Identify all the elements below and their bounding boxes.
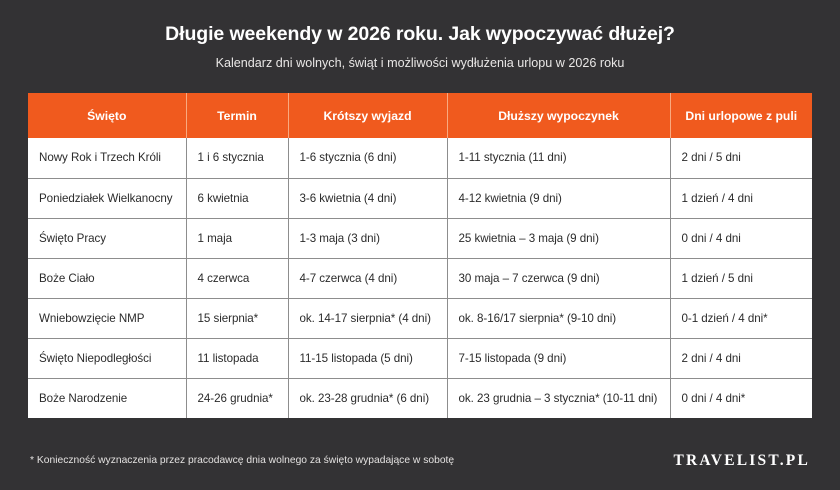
cell-vacation-days: 2 dni / 5 dni xyxy=(670,138,812,178)
calendar-table-container: Święto Termin Krótszy wyjazd Dłuższy wyp… xyxy=(28,93,812,418)
cell-date: 6 kwietnia xyxy=(186,178,288,218)
cell-holiday: Boże Ciało xyxy=(28,258,186,298)
cell-short-trip: ok. 14-17 sierpnia* (4 dni) xyxy=(288,298,447,338)
cell-holiday: Nowy Rok i Trzech Króli xyxy=(28,138,186,178)
cell-date: 24-26 grudnia* xyxy=(186,378,288,418)
cell-holiday: Poniedziałek Wielkanocny xyxy=(28,178,186,218)
column-header-holiday: Święto xyxy=(28,93,186,138)
cell-short-trip: 11-15 listopada (5 dni) xyxy=(288,338,447,378)
table-header-row: Święto Termin Krótszy wyjazd Dłuższy wyp… xyxy=(28,93,812,138)
page-title: Długie weekendy w 2026 roku. Jak wypoczy… xyxy=(0,22,840,46)
cell-long-rest: 7-15 listopada (9 dni) xyxy=(447,338,670,378)
column-header-short-trip: Krótszy wyjazd xyxy=(288,93,447,138)
table-row: Poniedziałek Wielkanocny 6 kwietnia 3-6 … xyxy=(28,178,812,218)
footer: * Konieczność wyznaczenia przez pracodaw… xyxy=(0,436,840,490)
brand-logo: TRAVELIST.PL xyxy=(673,452,810,470)
footnote-text: * Konieczność wyznaczenia przez pracodaw… xyxy=(30,454,454,467)
cell-long-rest: ok. 8-16/17 sierpnia* (9-10 dni) xyxy=(447,298,670,338)
calendar-table: Święto Termin Krótszy wyjazd Dłuższy wyp… xyxy=(28,93,812,418)
cell-short-trip: 1-6 stycznia (6 dni) xyxy=(288,138,447,178)
cell-long-rest: 30 maja – 7 czerwca (9 dni) xyxy=(447,258,670,298)
cell-vacation-days: 0 dni / 4 dni* xyxy=(670,378,812,418)
cell-long-rest: ok. 23 grudnia – 3 stycznia* (10-11 dni) xyxy=(447,378,670,418)
cell-holiday: Święto Pracy xyxy=(28,218,186,258)
infographic-root: Długie weekendy w 2026 roku. Jak wypoczy… xyxy=(0,0,840,490)
table-row: Boże Narodzenie 24-26 grudnia* ok. 23-28… xyxy=(28,378,812,418)
cell-short-trip: 1-3 maja (3 dni) xyxy=(288,218,447,258)
table-row: Święto Niepodległości 11 listopada 11-15… xyxy=(28,338,812,378)
cell-vacation-days: 1 dzień / 4 dni xyxy=(670,178,812,218)
cell-short-trip: ok. 23-28 grudnia* (6 dni) xyxy=(288,378,447,418)
cell-holiday: Święto Niepodległości xyxy=(28,338,186,378)
cell-long-rest: 1-11 stycznia (11 dni) xyxy=(447,138,670,178)
column-header-long-rest: Dłuższy wypoczynek xyxy=(447,93,670,138)
column-header-date: Termin xyxy=(186,93,288,138)
table-row: Wniebowzięcie NMP 15 sierpnia* ok. 14-17… xyxy=(28,298,812,338)
cell-vacation-days: 1 dzień / 5 dni xyxy=(670,258,812,298)
cell-short-trip: 4-7 czerwca (4 dni) xyxy=(288,258,447,298)
cell-long-rest: 25 kwietnia – 3 maja (9 dni) xyxy=(447,218,670,258)
page-subtitle: Kalendarz dni wolnych, świąt i możliwośc… xyxy=(0,55,840,71)
table-body: Nowy Rok i Trzech Króli 1 i 6 stycznia 1… xyxy=(28,138,812,418)
cell-vacation-days: 2 dni / 4 dni xyxy=(670,338,812,378)
cell-holiday: Wniebowzięcie NMP xyxy=(28,298,186,338)
cell-date: 15 sierpnia* xyxy=(186,298,288,338)
table-row: Nowy Rok i Trzech Króli 1 i 6 stycznia 1… xyxy=(28,138,812,178)
header-block: Długie weekendy w 2026 roku. Jak wypoczy… xyxy=(0,0,840,72)
cell-date: 11 listopada xyxy=(186,338,288,378)
cell-date: 1 maja xyxy=(186,218,288,258)
cell-date: 4 czerwca xyxy=(186,258,288,298)
cell-long-rest: 4-12 kwietnia (9 dni) xyxy=(447,178,670,218)
cell-short-trip: 3-6 kwietnia (4 dni) xyxy=(288,178,447,218)
table-header: Święto Termin Krótszy wyjazd Dłuższy wyp… xyxy=(28,93,812,138)
cell-holiday: Boże Narodzenie xyxy=(28,378,186,418)
column-header-vacation-days: Dni urlopowe z puli xyxy=(670,93,812,138)
cell-date: 1 i 6 stycznia xyxy=(186,138,288,178)
cell-vacation-days: 0-1 dzień / 4 dni* xyxy=(670,298,812,338)
cell-vacation-days: 0 dni / 4 dni xyxy=(670,218,812,258)
table-row: Święto Pracy 1 maja 1-3 maja (3 dni) 25 … xyxy=(28,218,812,258)
table-row: Boże Ciało 4 czerwca 4-7 czerwca (4 dni)… xyxy=(28,258,812,298)
